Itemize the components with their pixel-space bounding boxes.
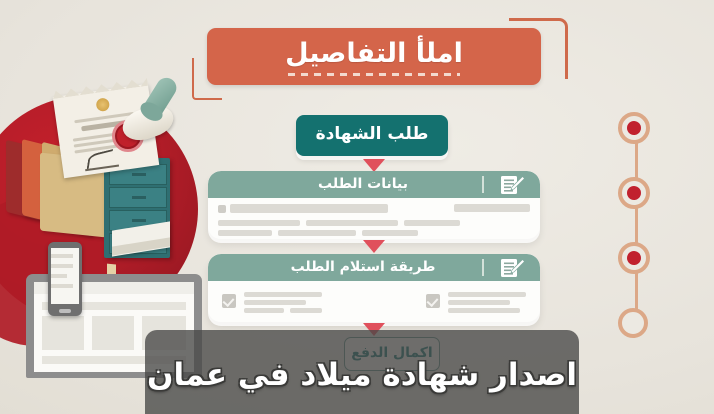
- card-request-data-body: [208, 198, 540, 239]
- smartphone-icon: [48, 242, 82, 316]
- page-title: املأ التفاصيل: [285, 40, 463, 67]
- progress-stepper: [618, 112, 654, 340]
- caption-overlay: اصدار شهادة ميلاد في عمان: [145, 330, 579, 414]
- card-delivery-method-header: طريقة استلام الطلب: [208, 254, 540, 281]
- page-title-banner: املأ التفاصيل: [207, 28, 541, 85]
- title-dotted-underline: [288, 73, 460, 76]
- caption-text: اصدار شهادة ميلاد في عمان: [147, 357, 577, 393]
- delivery-option-checkbox-2[interactable]: [426, 294, 440, 308]
- request-certificate-button[interactable]: طلب الشهادة: [296, 115, 448, 156]
- signature-icon: [83, 151, 119, 172]
- delivery-option-checkbox-1[interactable]: [222, 294, 236, 308]
- document-pencil-icon: [498, 175, 526, 195]
- slide-canvas: املأ التفاصيل طلب الشهادة بيانات الطلب: [0, 0, 714, 414]
- stepper-node-2[interactable]: [618, 177, 650, 209]
- card-request-data-title: بيانات الطلب: [318, 176, 408, 192]
- request-certificate-label: طلب الشهادة: [316, 124, 429, 144]
- document-pencil-icon: [498, 258, 526, 278]
- card-delivery-method-body: [208, 281, 540, 322]
- stepper-node-4[interactable]: [618, 308, 648, 338]
- header-divider: [482, 259, 484, 276]
- stepper-connector-line: [635, 126, 638, 328]
- gold-seal-icon: [95, 97, 110, 112]
- stepper-node-1[interactable]: [618, 112, 650, 144]
- stepper-node-3[interactable]: [618, 242, 650, 274]
- header-divider: [482, 176, 484, 193]
- card-delivery-method[interactable]: طريقة استلام الطلب: [208, 254, 540, 322]
- flow-arrow-2-icon: [363, 240, 385, 253]
- card-delivery-method-title: طريقة استلام الطلب: [291, 259, 436, 275]
- card-request-data[interactable]: بيانات الطلب: [208, 171, 540, 239]
- card-request-data-header: بيانات الطلب: [208, 171, 540, 198]
